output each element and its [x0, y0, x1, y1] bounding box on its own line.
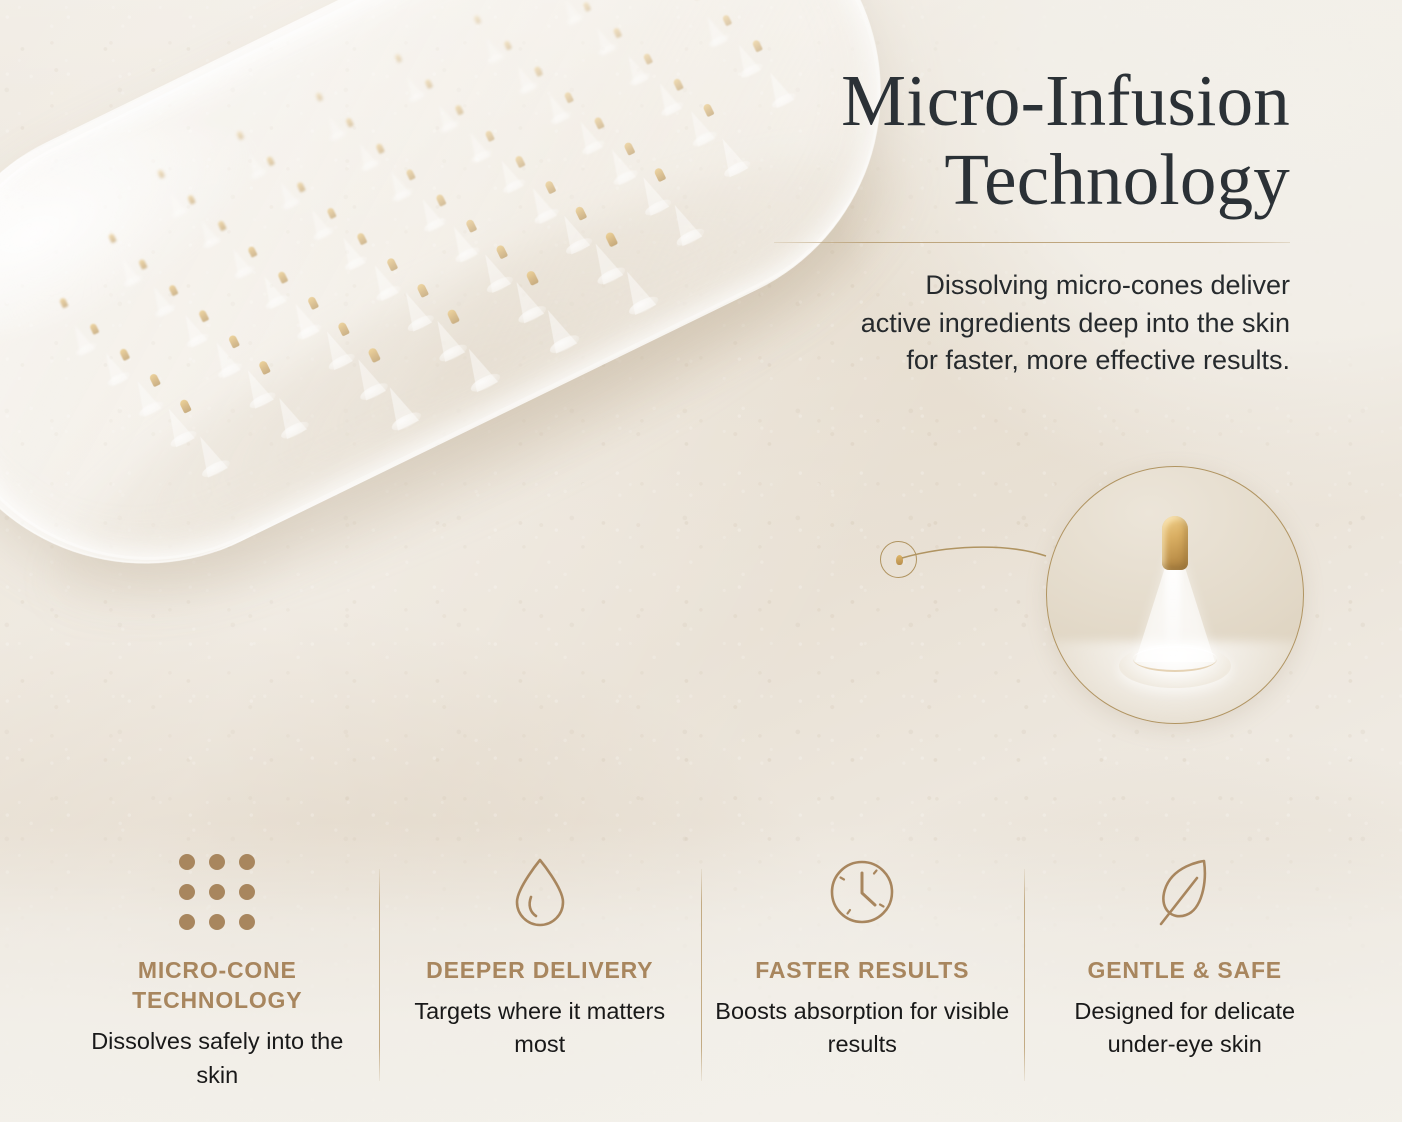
header-description: Dissolving micro-cones deliver active in…	[850, 267, 1290, 380]
cone-gold-tip	[1162, 516, 1188, 570]
feature-description: Designed for delicate under-eye skin	[1038, 995, 1333, 1062]
feature-item-gentle-and-safe: GENTLE & SAFE Designed for delicate unde…	[1024, 855, 1347, 1062]
title-divider	[774, 242, 1290, 244]
cone-base-ring	[1133, 646, 1217, 672]
feature-item-faster-results: FASTER RESULTS Boosts absorption for vis…	[701, 855, 1024, 1062]
droplet-icon	[393, 855, 688, 929]
page-title-line-1: Micro-Infusion	[841, 60, 1290, 141]
droplet-icon-shape	[509, 855, 571, 929]
callout-marker-cone	[896, 555, 903, 565]
dot-grid-icon-shape	[179, 854, 255, 930]
header-block: Micro-Infusion Technology Dissolving mic…	[700, 62, 1290, 380]
feature-row: MICRO-CONE TECHNOLOGY Dissolves safely i…	[56, 855, 1346, 1092]
feature-description: Dissolves safely into the skin	[70, 1025, 365, 1092]
clock-icon	[715, 855, 1010, 929]
dot-grid-dot	[209, 884, 225, 900]
dot-grid-dot	[179, 914, 195, 930]
feature-item-micro-cone-technology: MICRO-CONE TECHNOLOGY Dissolves safely i…	[56, 855, 379, 1092]
dot-grid-dot	[239, 914, 255, 930]
magnified-micro-cone	[1119, 510, 1231, 690]
dot-grid-dot	[179, 854, 195, 870]
leaf-icon-shape	[1152, 854, 1218, 930]
feature-description: Boosts absorption for visible results	[715, 995, 1010, 1062]
magnified-cone-circle	[1046, 466, 1304, 724]
page-title-line-2: Technology	[944, 139, 1290, 220]
dot-grid-dot	[209, 854, 225, 870]
feature-title: GENTLE & SAFE	[1038, 955, 1333, 985]
leaf-icon	[1038, 855, 1333, 929]
page-title: Micro-Infusion Technology	[700, 62, 1290, 220]
feature-title: MICRO-CONE TECHNOLOGY	[70, 955, 365, 1016]
dot-grid-dot	[179, 884, 195, 900]
callout-marker-circle	[880, 541, 917, 578]
dot-grid-dot	[209, 914, 225, 930]
feature-item-deeper-delivery: DEEPER DELIVERY Targets where it matters…	[379, 855, 702, 1062]
feature-description: Targets where it matters most	[393, 995, 688, 1062]
feature-title: FASTER RESULTS	[715, 955, 1010, 985]
dot-grid-dot	[239, 884, 255, 900]
feature-title: DEEPER DELIVERY	[393, 955, 688, 985]
dot-grid-dot	[239, 854, 255, 870]
micro-infusion-infographic: Micro-Infusion Technology Dissolving mic…	[0, 0, 1402, 1122]
dot-grid-icon	[70, 855, 365, 929]
clock-icon-shape	[827, 857, 897, 927]
